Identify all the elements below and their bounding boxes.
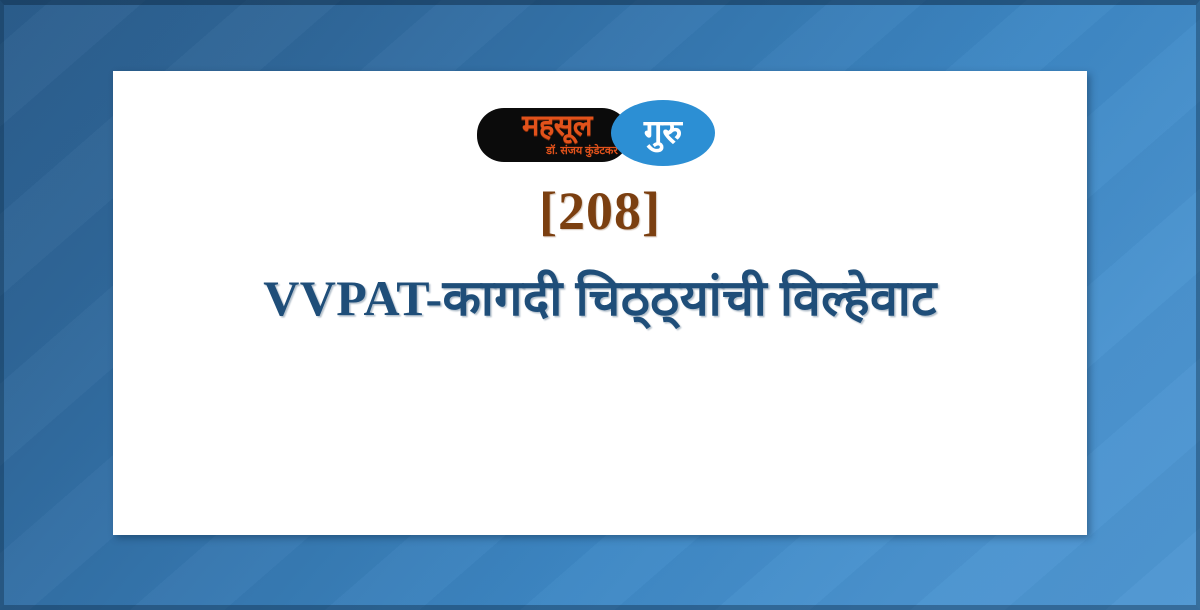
presentation-slide: महसूल डॉ. संजय कुंडेटकर गुरु [208] VVPAT… [0,0,1200,610]
slide-text-block: [208] VVPAT-कागदी चिठ्ठ्यांची विल्हेवाट [113,183,1087,330]
logo-wordmark-text: महसूल [487,108,627,144]
slide-number: [208] [113,183,1087,240]
mahsul-guru-logo: महसूल डॉ. संजय कुंडेटकर गुरु [477,88,723,166]
slide-content-panel: महसूल डॉ. संजय कुंडेटकर गुरु [208] VVPAT… [113,71,1087,535]
logo-badge-text: गुरु [611,100,715,166]
page-title: VVPAT-कागदी चिठ्ठ्यांची विल्हेवाट [113,266,1087,330]
